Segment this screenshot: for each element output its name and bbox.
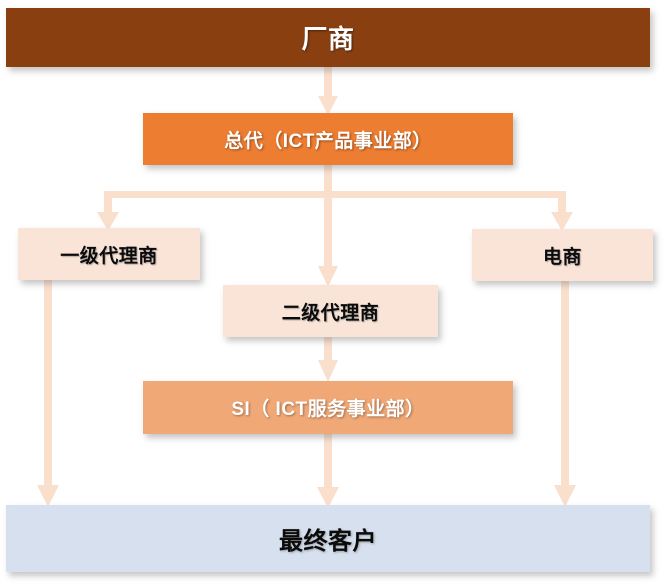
node-tier1-agent[interactable]: 一级代理商: [18, 228, 200, 280]
node-ecommerce-label: 电商: [543, 242, 582, 269]
flowchart-canvas: 厂商 总代（ICT产品事业部） 一级代理商 二级代理商 电商 SI（ ICT服务…: [0, 0, 664, 584]
node-vendor-label: 厂商: [301, 19, 354, 56]
node-tier1-agent-label: 一级代理商: [60, 241, 158, 268]
node-tier2-agent-label: 二级代理商: [282, 298, 380, 325]
edge-si-to-end-customer: [317, 434, 339, 508]
node-si-label: SI（ ICT服务事业部）: [231, 394, 424, 421]
edge-distributor-to-tier2-agent: [318, 197, 338, 287]
node-vendor[interactable]: 厂商: [6, 8, 650, 67]
node-distributor-label: 总代（ICT产品事业部）: [224, 126, 432, 153]
edge-tier2-agent-to-si: [318, 337, 338, 382]
node-end-customer[interactable]: 最终客户: [6, 505, 650, 572]
edge-vendor-to-distributor: [318, 67, 338, 115]
edge-ecommerce-to-end-customer: [554, 281, 576, 507]
node-distributor[interactable]: 总代（ICT产品事业部）: [143, 113, 513, 165]
edge-distributor-branch-bus: [104, 165, 566, 216]
node-si[interactable]: SI（ ICT服务事业部）: [143, 381, 513, 434]
node-end-customer-label: 最终客户: [279, 521, 377, 556]
node-ecommerce[interactable]: 电商: [472, 229, 653, 281]
node-tier2-agent[interactable]: 二级代理商: [223, 285, 438, 337]
edge-tier1-agent-to-end-customer: [37, 280, 59, 507]
